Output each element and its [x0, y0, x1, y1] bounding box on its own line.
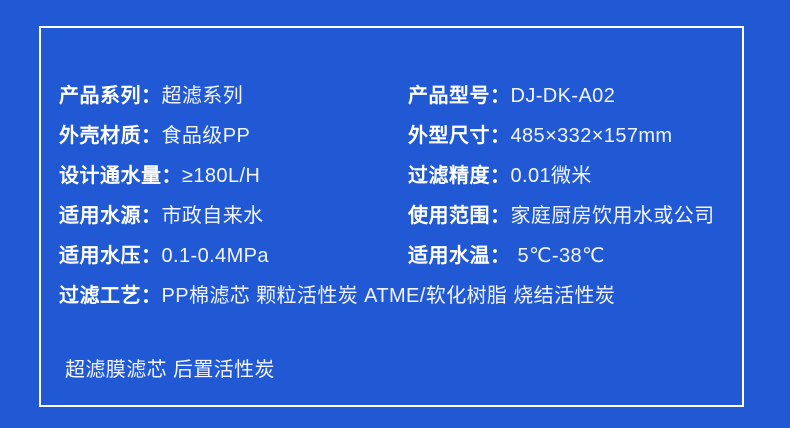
spec-row-dimensions: 外型尺寸：485×332×157mm — [408, 116, 673, 156]
spec-label-usage-scope: 使用范围： — [408, 205, 511, 227]
spec-row-filtration-process: 过滤工艺：PP棉滤芯 颗粒活性炭 ATME/软化树脂 烧结活性炭 — [59, 276, 736, 316]
spec-value-water-pressure: 0.1-0.4MPa — [162, 245, 269, 267]
spec-value-design-flow: ≥180L/H — [182, 165, 260, 187]
spec-label-model-number: 产品型号： — [408, 85, 511, 107]
spec-value-filtration-accuracy: 0.01微米 — [511, 165, 592, 187]
spec-value-water-temperature: 5℃-38℃ — [518, 245, 605, 267]
spec-frame-border: 产品系列：超滤系列 外壳材质：食品级PP 设计通水量：≥180L/H 适用水源：… — [39, 26, 744, 407]
spec-label-product-series: 产品系列： — [59, 85, 162, 107]
spec-label-filtration-process: 过滤工艺： — [59, 285, 162, 307]
spec-row-design-flow: 设计通水量：≥180L/H — [59, 156, 260, 196]
spec-value-dimensions: 485×332×157mm — [511, 125, 673, 147]
spec-row-product-series: 产品系列：超滤系列 — [59, 76, 243, 116]
spec-label-design-flow: 设计通水量： — [59, 165, 182, 187]
spec-row-water-temperature: 适用水温：5℃-38℃ — [408, 236, 605, 276]
spec-label-water-source: 适用水源： — [59, 205, 162, 227]
spec-row-water-pressure: 适用水压：0.1-0.4MPa — [59, 236, 269, 276]
spec-row-usage-scope: 使用范围：家庭厨房饮用水或公司 — [408, 196, 715, 236]
spec-grid: 产品系列：超滤系列 外壳材质：食品级PP 设计通水量：≥180L/H 适用水源：… — [41, 28, 746, 409]
spec-value-shell-material: 食品级PP — [162, 125, 251, 147]
spec-row-shell-material: 外壳材质：食品级PP — [59, 116, 250, 156]
spec-row-filtration-accuracy: 过滤精度：0.01微米 — [408, 156, 592, 196]
product-spec-panel: 产品系列：超滤系列 外壳材质：食品级PP 设计通水量：≥180L/H 适用水源：… — [0, 0, 790, 428]
spec-label-water-temperature: 适用水温： — [408, 245, 511, 267]
spec-value-filtration-process-continued: 超滤膜滤芯 后置活性炭 — [65, 359, 275, 381]
spec-label-dimensions: 外型尺寸： — [408, 125, 511, 147]
spec-row-model-number: 产品型号：DJ-DK-A02 — [408, 76, 615, 116]
spec-label-water-pressure: 适用水压： — [59, 245, 162, 267]
spec-label-shell-material: 外壳材质： — [59, 125, 162, 147]
spec-value-model-number: DJ-DK-A02 — [511, 85, 616, 107]
spec-row-filtration-process-continued: 超滤膜滤芯 后置活性炭 — [65, 350, 275, 390]
spec-value-product-series: 超滤系列 — [162, 85, 244, 107]
spec-value-filtration-process: PP棉滤芯 颗粒活性炭 ATME/软化树脂 烧结活性炭 — [162, 285, 616, 307]
spec-value-usage-scope: 家庭厨房饮用水或公司 — [511, 205, 715, 227]
spec-label-filtration-accuracy: 过滤精度： — [408, 165, 511, 187]
spec-row-water-source: 适用水源：市政自来水 — [59, 196, 264, 236]
spec-value-water-source: 市政自来水 — [162, 205, 264, 227]
